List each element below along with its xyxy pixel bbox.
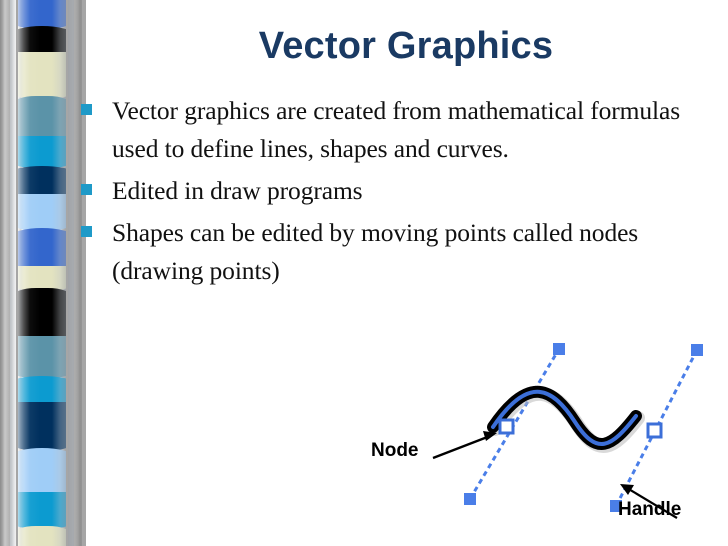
stripe-segment bbox=[18, 526, 66, 546]
stripe-segment bbox=[18, 492, 66, 529]
list-item-label: Shapes can be edited by moving points ca… bbox=[112, 214, 710, 290]
node-label: Node bbox=[371, 440, 419, 462]
bullet-list: Vector graphics are created from mathema… bbox=[80, 92, 710, 294]
stripe-stack bbox=[18, 0, 66, 546]
list-item-label: Edited in draw programs bbox=[112, 172, 710, 210]
left-handle-endpoint-bottom[interactable] bbox=[464, 493, 476, 505]
stripe-segment bbox=[18, 288, 66, 339]
square-bullet-icon bbox=[81, 184, 92, 195]
bezier-curve-diagram: Node Handle bbox=[355, 332, 728, 546]
decorative-stripe-band bbox=[0, 0, 84, 546]
stripe-segment bbox=[18, 228, 66, 269]
left-handle-endpoint-top[interactable] bbox=[553, 343, 565, 355]
square-bullet-icon bbox=[81, 104, 92, 115]
slide-canvas: Vector Graphics Vector graphics are crea… bbox=[0, 0, 728, 546]
stripe-segment bbox=[18, 336, 66, 379]
list-item: Edited in draw programs bbox=[80, 172, 710, 210]
stripe-segment bbox=[18, 376, 66, 405]
stripe-segment bbox=[18, 402, 66, 451]
right-handle-endpoint-top[interactable] bbox=[691, 344, 703, 356]
list-item-label: Vector graphics are created from mathema… bbox=[112, 92, 710, 168]
stripe-segment bbox=[18, 194, 66, 231]
stripe-segment bbox=[18, 52, 66, 99]
stripe-segment bbox=[18, 26, 66, 55]
stripe-segment bbox=[18, 136, 66, 169]
left-node-handle[interactable] bbox=[500, 420, 513, 433]
stripe-segment bbox=[18, 448, 66, 495]
handle-label: Handle bbox=[618, 499, 681, 521]
node-callout-arrow bbox=[433, 431, 497, 458]
stripe-segment bbox=[18, 166, 66, 197]
right-node-handle[interactable] bbox=[648, 424, 661, 437]
band-frame-line-right bbox=[66, 0, 68, 546]
list-item: Shapes can be edited by moving points ca… bbox=[80, 214, 710, 290]
page-title: Vector Graphics bbox=[96, 26, 716, 68]
band-frame-line-left bbox=[16, 0, 18, 546]
stripe-segment bbox=[18, 96, 66, 139]
stripe-segment bbox=[18, 0, 66, 29]
list-item: Vector graphics are created from mathema… bbox=[80, 92, 710, 168]
square-bullet-icon bbox=[81, 226, 92, 237]
